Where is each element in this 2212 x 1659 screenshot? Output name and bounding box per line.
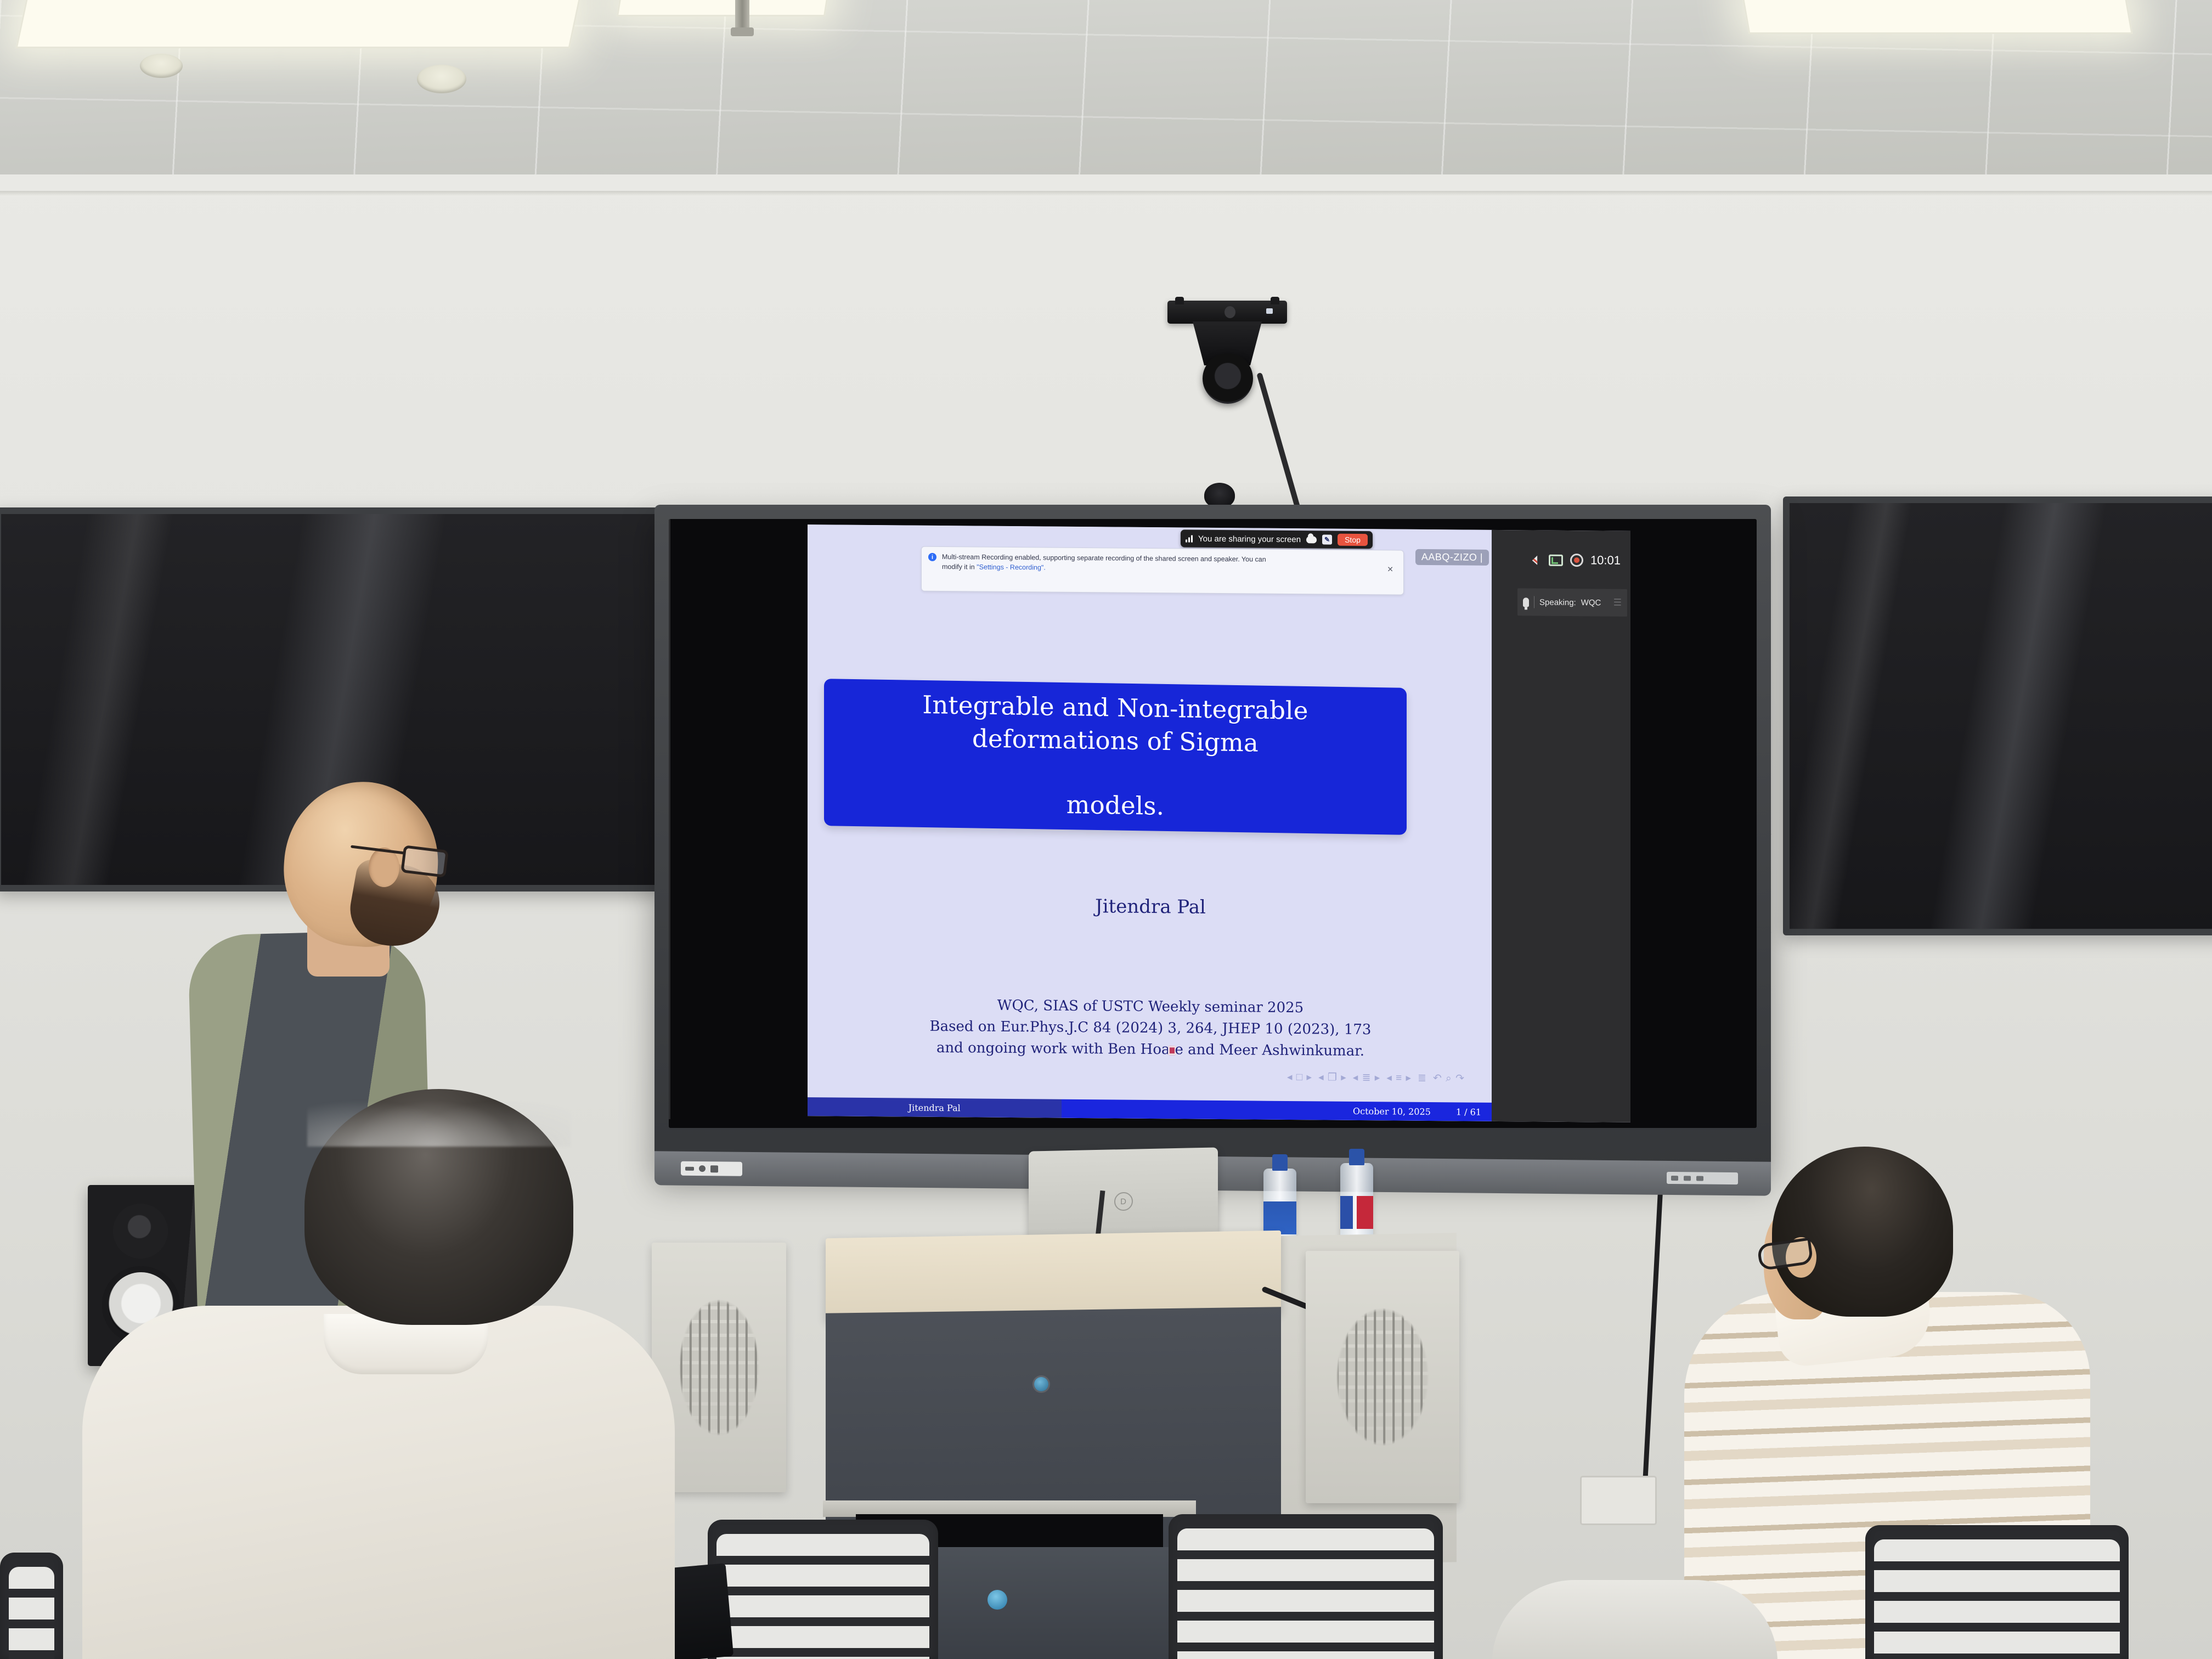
recessed-downlight xyxy=(140,54,183,78)
monitor-glass-reflection xyxy=(1790,503,2212,929)
zoom-letterbox-right xyxy=(1492,530,1630,1122)
mic-muted-icon[interactable] xyxy=(1527,554,1542,566)
slide-author: Jitendra Pal xyxy=(808,893,1493,921)
av-port-panel-right[interactable] xyxy=(1667,1172,1738,1184)
bottle-label xyxy=(1340,1196,1373,1229)
camera-sensor-icon xyxy=(1224,306,1235,318)
divider xyxy=(1534,596,1534,608)
footline-date: October 10, 2025 xyxy=(1353,1105,1431,1116)
chair-back-slats xyxy=(716,1534,929,1659)
meeting-id-badge[interactable]: AABQ-ZIZO | xyxy=(1415,549,1489,566)
mic-icon xyxy=(1523,597,1529,607)
display-panel: Integrable and Non-integrable deformatio… xyxy=(669,519,1757,1128)
chair[interactable] xyxy=(1169,1514,1443,1659)
chair-back-slats xyxy=(1177,1528,1434,1659)
clock-label: 10:01 xyxy=(1590,553,1621,567)
audio-wave-icon: ☰ xyxy=(1613,597,1622,608)
wall-display[interactable]: Integrable and Non-integrable deformatio… xyxy=(654,505,1771,1171)
sprinkler-head xyxy=(735,0,749,34)
wall-av-plate xyxy=(1580,1476,1657,1525)
round-table xyxy=(1492,1580,1778,1659)
zoom-shared-screen[interactable]: Integrable and Non-integrable deformatio… xyxy=(808,524,1630,1122)
slide-title-line1: Integrable and Non-integrable deformatio… xyxy=(850,687,1380,761)
vent-grill xyxy=(670,1278,767,1458)
wall-seam xyxy=(0,191,2212,196)
notification-line-1: Multi-stream Recording enabled, supporti… xyxy=(942,553,1266,563)
nav-section-icon[interactable]: ◂ ≡ ▸ xyxy=(1386,1071,1412,1084)
notification-line-2-prefix: modify it in xyxy=(942,563,977,571)
beamer-navigation-symbols[interactable]: ◂ □ ▸ ◂ ❐ ▸ ◂ ≣ ▸ ◂ ≡ ▸ ≣ ↶ ⌕ ↷ xyxy=(1287,1071,1465,1085)
reference-line-2: Based on Eur.Phys.J.C 84 (2024) 3, 264, … xyxy=(930,1018,1372,1038)
nav-presentation-icon[interactable]: ≣ xyxy=(1418,1072,1427,1085)
zoom-status-tray[interactable]: 10:01 xyxy=(1490,548,1627,573)
record-icon[interactable] xyxy=(1570,554,1583,567)
ceiling-light-panel xyxy=(1740,0,2132,34)
chair[interactable] xyxy=(0,1553,63,1659)
ceiling-light-panel xyxy=(16,0,583,48)
info-icon: i xyxy=(928,553,936,561)
notification-text: Multi-stream Recording enabled, supporti… xyxy=(942,552,1266,589)
attendee-foreground-hair xyxy=(307,1081,571,1147)
reference-line-3b: e and Meer Ashwinkumar. xyxy=(1175,1041,1364,1059)
right-wall-monitor xyxy=(1783,496,2212,935)
reference-line-3a: and ongoing work with Ben Hoa xyxy=(936,1040,1170,1058)
ceiling xyxy=(0,0,2212,181)
slide-title-box: Integrable and Non-integrable deformatio… xyxy=(824,679,1407,835)
reference-line-1: WQC, SIAS of USTC Weekly seminar 2025 xyxy=(997,997,1304,1016)
slide-references: WQC, SIAS of USTC Weekly seminar 2025 Ba… xyxy=(808,994,1493,1063)
laptop-brand-icon: D xyxy=(1114,1192,1133,1211)
beamer-slide: Integrable and Non-integrable deformatio… xyxy=(808,524,1493,1121)
speaker-tweeter-icon xyxy=(113,1204,168,1259)
share-status-label: You are sharing your screen xyxy=(1198,534,1301,544)
attendee-right-head xyxy=(1772,1147,1953,1317)
screen-share-bar[interactable]: You are sharing your screen ✎ Stop xyxy=(1181,529,1373,549)
podium-lock-icon[interactable] xyxy=(1034,1377,1048,1391)
footline-right: October 10, 2025 1 / 61 xyxy=(1267,1101,1494,1121)
zoom-letterbox-left xyxy=(669,519,670,1119)
nav-frame-icon[interactable]: ◂ ❐ ▸ xyxy=(1318,1071,1347,1084)
equipment-cabinet-right xyxy=(1306,1251,1459,1503)
nav-subsection-icon[interactable]: ◂ ≣ ▸ xyxy=(1353,1071,1381,1084)
stop-share-button[interactable]: Stop xyxy=(1338,534,1368,546)
ceiling-light-panel xyxy=(617,0,830,16)
chair-back-slats xyxy=(9,1567,54,1659)
vent-grill xyxy=(1327,1286,1438,1468)
active-speaker-indicator: Speaking: WQC ☰ xyxy=(1517,588,1627,617)
notification-settings-link[interactable]: "Settings - Recording". xyxy=(977,563,1046,572)
podium-top xyxy=(826,1231,1281,1321)
room-photo-scene: Integrable and Non-integrable deformatio… xyxy=(0,0,2212,1659)
camera-led-icon xyxy=(1266,308,1273,314)
speaking-label: Speaking: xyxy=(1539,597,1576,607)
ceiling-camera-mic-bar xyxy=(1167,301,1287,324)
av-port-panel[interactable] xyxy=(681,1161,742,1176)
close-icon[interactable]: ✕ xyxy=(1387,565,1393,574)
recording-notification[interactable]: i Multi-stream Recording enabled, suppor… xyxy=(921,546,1404,595)
bottle-label xyxy=(1263,1201,1296,1234)
footline-page: 1 / 61 xyxy=(1456,1107,1481,1117)
footline-author: Jitendra Pal xyxy=(808,1097,1062,1118)
speaking-name: WQC xyxy=(1581,598,1601,607)
chair[interactable] xyxy=(1865,1525,2129,1659)
cloud-record-icon[interactable] xyxy=(1306,536,1317,543)
recessed-downlight xyxy=(417,65,466,93)
camera-lens-icon xyxy=(1203,353,1253,404)
screen-cast-icon[interactable] xyxy=(1549,554,1563,566)
nav-back-find-forward-icon[interactable]: ↶ ⌕ ↷ xyxy=(1433,1072,1465,1085)
slide-title-line2: models. xyxy=(850,785,1380,826)
signal-bars-icon xyxy=(1186,535,1193,542)
slide-title: Integrable and Non-integrable deformatio… xyxy=(824,687,1407,826)
chair-back-slats xyxy=(1874,1539,2120,1659)
footline-spacer xyxy=(1062,1099,1267,1120)
nav-slide-icon[interactable]: ◂ □ ▸ xyxy=(1287,1071,1312,1084)
desk-brand-icon xyxy=(988,1590,1007,1610)
chair[interactable] xyxy=(708,1520,938,1659)
annotate-icon[interactable]: ✎ xyxy=(1322,534,1332,544)
